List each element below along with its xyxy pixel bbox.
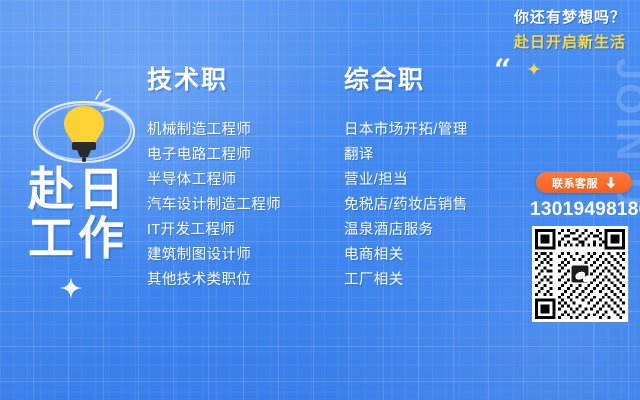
list-item: 免税店/药妆店销售: [344, 193, 468, 218]
list-item: 建筑制图设计师: [147, 243, 281, 268]
poster-canvas: JOIN U 你还有梦想吗？ 赴日开启新生活 “ 赴日 工作: [0, 0, 640, 400]
sparkle-star-white-icon: [60, 277, 82, 299]
page-title-line2: 工作: [28, 214, 128, 263]
list-item: 翻译: [344, 143, 468, 168]
list-item: 营业/担当: [344, 168, 468, 193]
list-item: 电子电路工程师: [147, 143, 281, 168]
headline-question: 你还有梦想吗？: [514, 6, 626, 27]
qr-code-icon[interactable]: [532, 226, 628, 322]
list-item: 电商相关: [344, 243, 468, 268]
contact-support-button-label: 联系客服: [552, 175, 598, 191]
list-item: 温泉酒店服务: [344, 218, 468, 243]
quote-mark-icon: “: [494, 56, 511, 86]
list-item: 半导体工程师: [147, 168, 281, 193]
phone-number: 13019498186: [530, 199, 635, 221]
page-title-line1: 赴日: [28, 165, 128, 214]
list-item: 工厂相关: [344, 268, 468, 293]
column-tech: 技术职 机械制造工程师 电子电路工程师 半导体工程师 汽车设计制造工程师 IT开…: [147, 60, 281, 293]
column-general-list: 日本市场开拓/管理 翻译 营业/担当 免税店/药妆店销售 温泉酒店服务 电商相关…: [344, 118, 468, 293]
sparkle-star-yellow-icon: [527, 62, 541, 76]
column-general: 综合职 日本市场开拓/管理 翻译 营业/担当 免税店/药妆店销售 温泉酒店服务 …: [344, 60, 468, 293]
column-general-title: 综合职: [344, 60, 468, 96]
list-item: IT开发工程师: [147, 218, 281, 243]
list-item: 汽车设计制造工程师: [147, 193, 281, 218]
headline-slogan: 赴日开启新生活: [514, 31, 626, 52]
column-tech-list: 机械制造工程师 电子电路工程师 半导体工程师 汽车设计制造工程师 IT开发工程师…: [147, 118, 281, 293]
arrow-down-icon: [606, 177, 616, 189]
lightbulb-icon: [64, 106, 104, 162]
page-title: 赴日 工作: [28, 165, 128, 263]
list-item: 其他技术类职位: [147, 268, 281, 293]
list-item: 机械制造工程师: [147, 118, 281, 143]
contact-support-button[interactable]: 联系客服: [536, 172, 632, 193]
list-item: 日本市场开拓/管理: [344, 118, 468, 143]
column-tech-title: 技术职: [147, 60, 281, 96]
